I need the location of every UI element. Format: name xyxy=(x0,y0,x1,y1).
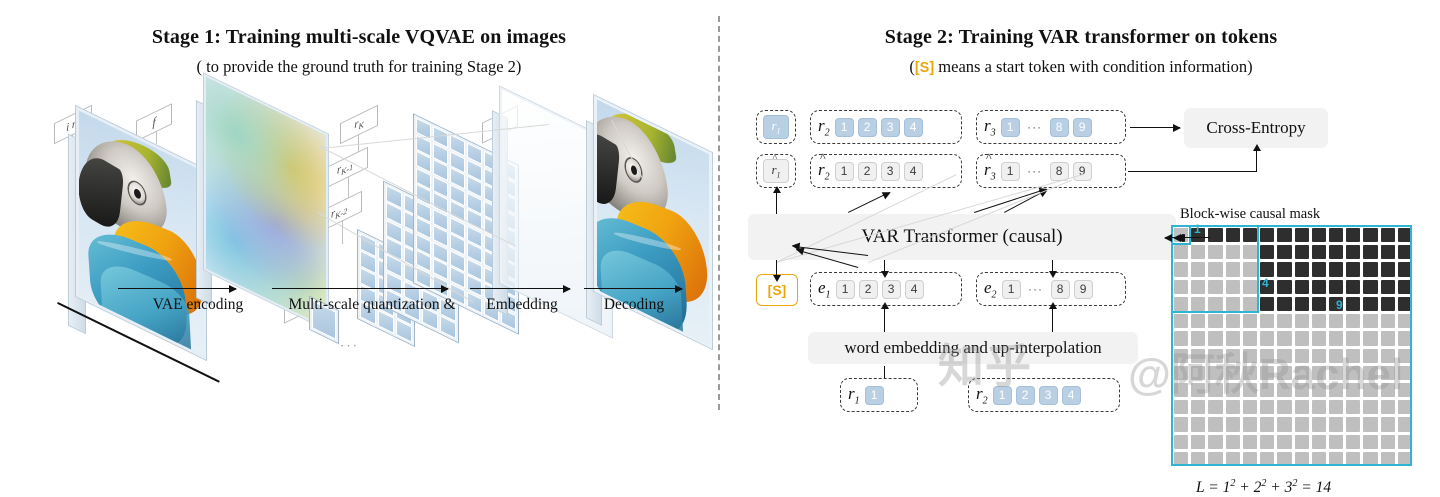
arrow-e1-into-transformer xyxy=(884,260,885,272)
input-token-e1-2[interactable]: 2 xyxy=(859,280,878,299)
mask-to-transformer-arrow xyxy=(1165,237,1210,238)
line-pred-to-loss xyxy=(1128,171,1256,172)
formula-lhs: L xyxy=(1196,479,1204,496)
stage2-title: Stage 2: Training VAR transformer on tok… xyxy=(722,26,1440,49)
start-token-label: [S] xyxy=(768,282,787,298)
causal-mask-caption: Block-wise causal mask xyxy=(1180,206,1320,223)
pred-row-r1-label: ^r1 xyxy=(771,162,780,180)
input-macaw-image xyxy=(79,111,203,355)
gt-token-r1-1[interactable]: r1 xyxy=(763,115,789,139)
pred-token-r1-1[interactable]: ^r1 xyxy=(763,159,789,183)
gt-token-r3-8[interactable]: 8 xyxy=(1050,118,1069,137)
word-embedding-box[interactable]: word embedding and up-interpolation xyxy=(808,332,1138,364)
arrow-embedding xyxy=(470,288,570,289)
caption-embedding: Embedding xyxy=(470,296,574,314)
mask-block-3 xyxy=(1171,225,1412,466)
input-token-e1-1[interactable]: 1 xyxy=(836,280,855,299)
source-row-r1-label: r1 xyxy=(841,384,865,406)
caption-quantization: Multi-scale quantization & xyxy=(272,296,472,314)
tag-leader-rk2 xyxy=(342,218,343,244)
input-token-e2-8[interactable]: 8 xyxy=(1051,280,1070,299)
pred-row-r1: ^r1 xyxy=(756,154,796,188)
word-embedding-label: word embedding and up-interpolation xyxy=(844,338,1101,358)
arrow-s-into-transformer xyxy=(776,260,777,276)
stage2-diagram: r1 r2 1 2 3 4 r3 1 ··· 8 9 ^r1 ^r2 xyxy=(718,96,1440,426)
pred-token-r2-4[interactable]: 4 xyxy=(904,162,923,181)
gt-token-r3-1[interactable]: 1 xyxy=(1001,118,1020,137)
line-source-r1-up xyxy=(884,366,885,378)
gt-row-r1-label: r1 xyxy=(771,118,780,136)
gt-row-r1: r1 xyxy=(756,110,796,144)
source-row-r1: r1 1 xyxy=(840,378,918,412)
arrow-embedding-to-e1 xyxy=(884,308,885,332)
source-row-r2: r2 1 2 3 4 xyxy=(968,378,1120,412)
start-token-inline: [S] xyxy=(915,60,934,76)
stage2-subtitle-rest: means a start token with condition infor… xyxy=(934,57,1252,76)
formula-t1: 1 xyxy=(1223,479,1231,496)
mask-label-4: 4 xyxy=(1262,276,1269,290)
stage1-subtitle: ( to provide the ground truth for traini… xyxy=(0,57,718,77)
formula-t3: 3 xyxy=(1285,479,1293,496)
stage1-diagram: i m f rK rK-1 rK-2 r1 f xyxy=(0,96,718,426)
gt-token-r3-9[interactable]: 9 xyxy=(1073,118,1092,137)
input-token-e2-1[interactable]: 1 xyxy=(1002,280,1021,299)
arrow-e2-into-transformer xyxy=(1052,260,1053,272)
gt-token-r2-4[interactable]: 4 xyxy=(904,118,923,137)
mask-label-9: 9 xyxy=(1336,298,1343,312)
caption-vae-encoding: VAE encoding xyxy=(118,296,278,314)
input-token-e2-9[interactable]: 9 xyxy=(1074,280,1093,299)
source-token-r2-3[interactable]: 3 xyxy=(1039,386,1058,405)
token-grid-ellipsis: ··· xyxy=(340,338,359,354)
formula-result: 14 xyxy=(1316,479,1332,496)
cross-entropy-label: Cross-Entropy xyxy=(1206,118,1305,138)
gt-row-r2: r2 1 2 3 4 xyxy=(810,110,962,144)
arrow-transformer-to-r1 xyxy=(776,192,777,214)
pred-row-r3-label: ^r3 xyxy=(977,160,1001,182)
feature-map-slab xyxy=(204,74,328,330)
stage1-title: Stage 1: Training multi-scale VQVAE on i… xyxy=(0,26,718,49)
pred-row-r2-label: ^r2 xyxy=(811,160,835,182)
gt-token-r3-ellipsis: ··· xyxy=(1024,118,1046,137)
arrow-gt-to-loss xyxy=(1130,127,1180,128)
pred-token-r3-1[interactable]: 1 xyxy=(1001,162,1020,181)
tag-f: f xyxy=(136,103,172,142)
arrow-embedding-to-e2 xyxy=(1052,308,1053,332)
arrow-decoding xyxy=(584,288,682,289)
pred-token-r2-2[interactable]: 2 xyxy=(858,162,877,181)
source-token-r2-1[interactable]: 1 xyxy=(993,386,1012,405)
gt-token-r2-3[interactable]: 3 xyxy=(881,118,900,137)
source-token-r1-1[interactable]: 1 xyxy=(865,386,884,405)
tag-rk: rK xyxy=(340,105,378,145)
caption-decoding: Decoding xyxy=(584,296,684,314)
arrow-vae-encoding xyxy=(118,288,236,289)
gt-row-r2-label: r2 xyxy=(811,116,835,138)
sequence-length-formula: L = 12 + 22 + 32 = 14 xyxy=(1196,478,1331,497)
input-token-e1-4[interactable]: 4 xyxy=(905,280,924,299)
arrow-pred-to-loss xyxy=(1256,150,1257,172)
stage2-subtitle: ([S] means a start token with condition … xyxy=(722,57,1440,77)
gt-row-r3: r3 1 ··· 8 9 xyxy=(976,110,1126,144)
mask-label-1: 1 xyxy=(1194,222,1201,236)
input-token-e1-3[interactable]: 3 xyxy=(882,280,901,299)
input-row-e1-label: e1 xyxy=(811,278,836,300)
pred-token-r2-3[interactable]: 3 xyxy=(881,162,900,181)
tag-f-label: f xyxy=(152,114,155,131)
formula-t2: 2 xyxy=(1254,479,1262,496)
pred-token-r2-1[interactable]: 1 xyxy=(835,162,854,181)
input-row-e2-label: e2 xyxy=(977,278,1002,300)
source-token-r2-2[interactable]: 2 xyxy=(1016,386,1035,405)
pred-token-r3-ellipsis: ··· xyxy=(1024,162,1046,181)
gt-token-r2-1[interactable]: 1 xyxy=(835,118,854,137)
source-token-r2-4[interactable]: 4 xyxy=(1062,386,1081,405)
gt-row-r3-label: r3 xyxy=(977,116,1001,138)
input-token-e2-ellipsis: ··· xyxy=(1025,280,1047,299)
arrow-quantization xyxy=(272,288,448,289)
source-row-r2-label: r2 xyxy=(969,384,993,406)
pred-token-r3-9[interactable]: 9 xyxy=(1073,162,1092,181)
tag-rk-label: rK xyxy=(354,115,364,134)
cross-entropy-box[interactable]: Cross-Entropy xyxy=(1184,108,1328,148)
gt-token-r2-2[interactable]: 2 xyxy=(858,118,877,137)
